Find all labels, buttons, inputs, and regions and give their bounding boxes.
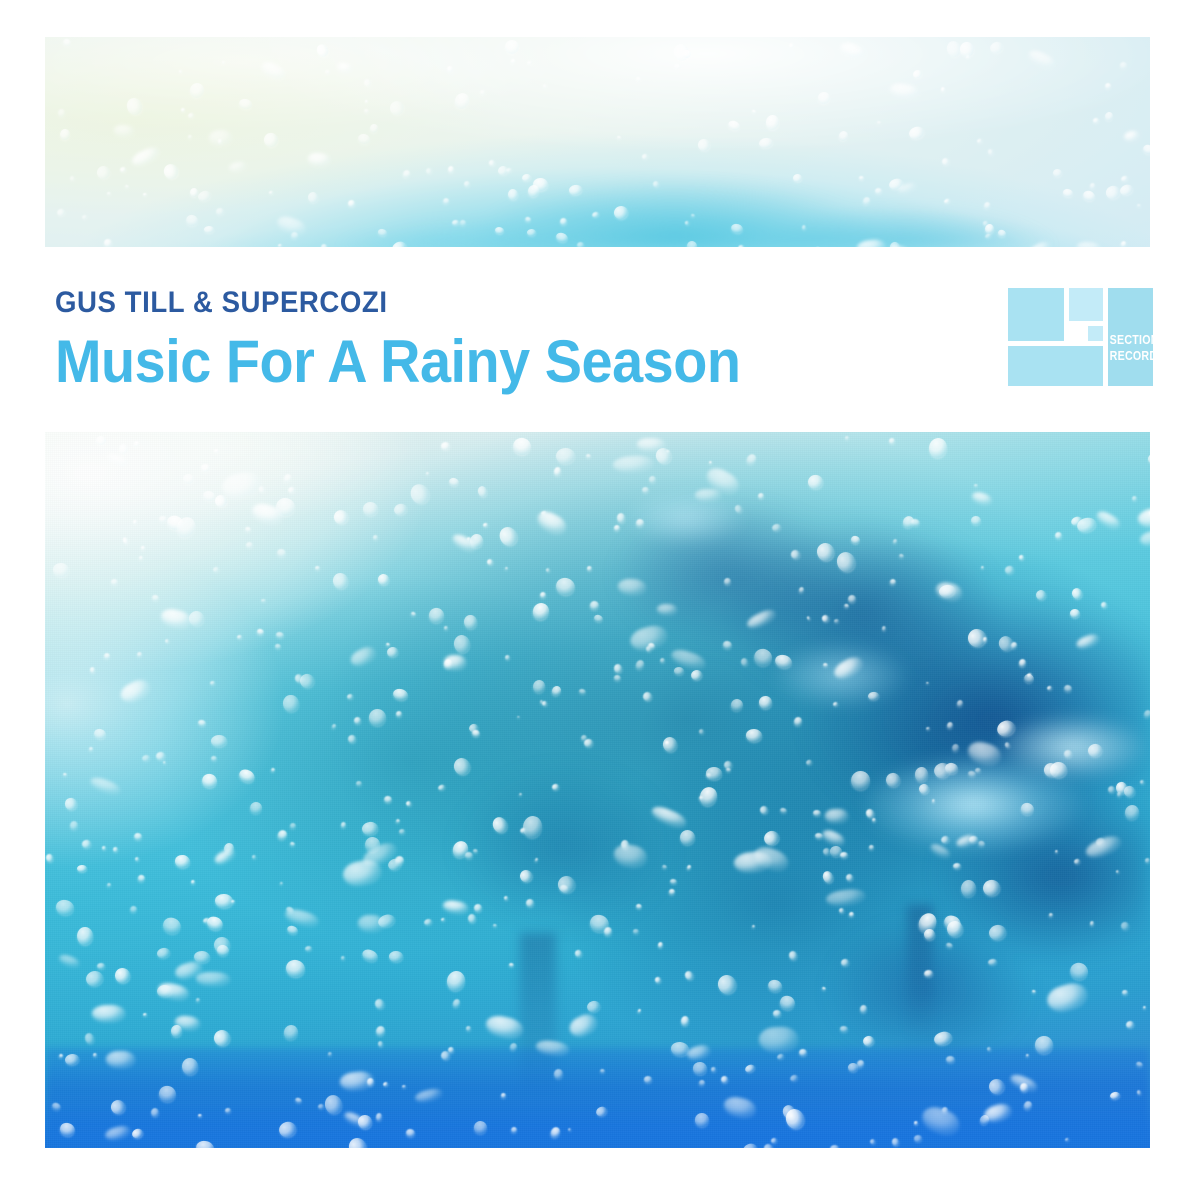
- raindrop: [737, 244, 745, 247]
- title-block: GUS TILL & SUPERCOZI Music For A Rainy S…: [55, 288, 955, 392]
- raindrop: [1122, 990, 1128, 995]
- raindrop: [674, 64, 682, 70]
- raindrop: [467, 914, 476, 924]
- raindrop: [554, 576, 577, 598]
- raindrop: [361, 948, 380, 965]
- raindrop: [924, 929, 935, 941]
- raindrop: [287, 486, 295, 494]
- raindrop: [757, 492, 764, 499]
- raindrop: [901, 515, 916, 530]
- raindrop: [369, 123, 379, 133]
- raindrop: [402, 169, 412, 179]
- raindrop: [133, 832, 143, 841]
- raindrop: [1049, 912, 1053, 916]
- raindrop: [106, 452, 129, 468]
- raindrop: [415, 1087, 443, 1103]
- raindrop: [840, 852, 848, 858]
- raindrop: [386, 646, 399, 658]
- raindrop: [53, 562, 70, 577]
- raindrop: [1067, 960, 1091, 984]
- raindrop: [275, 643, 282, 649]
- raindrop: [90, 667, 96, 673]
- raindrop: [635, 518, 645, 528]
- raindrop: [347, 734, 356, 743]
- raindrop: [724, 577, 732, 585]
- raindrop: [156, 946, 171, 959]
- raindrop: [89, 774, 122, 795]
- raindrop: [1055, 850, 1058, 853]
- raindrop: [1125, 1019, 1135, 1029]
- raindrop: [1045, 980, 1090, 1014]
- raindrop: [1020, 1083, 1028, 1092]
- raindrop: [578, 688, 586, 695]
- raindrop: [451, 219, 459, 225]
- raindrop: [1084, 833, 1122, 860]
- raindrop: [527, 61, 532, 66]
- raindrop: [84, 1032, 96, 1045]
- raindrop: [832, 702, 838, 708]
- raindrop: [641, 153, 649, 160]
- raindrop: [1120, 240, 1127, 247]
- raindrop: [1026, 238, 1053, 247]
- raindrop: [201, 463, 211, 471]
- raindrop: [535, 508, 570, 537]
- raindrop: [469, 533, 484, 549]
- raindrop: [745, 607, 777, 630]
- raindrop: [411, 611, 417, 617]
- raindrop: [118, 676, 153, 705]
- raindrop: [849, 768, 873, 793]
- raindrop: [96, 435, 106, 444]
- raindrop: [550, 684, 563, 697]
- raindrop: [143, 1013, 147, 1016]
- raindrop: [1062, 188, 1073, 198]
- raindrop: [821, 828, 847, 848]
- raindrop: [277, 1120, 298, 1139]
- raindrop: [471, 729, 481, 738]
- raindrop: [1032, 989, 1036, 993]
- raindrop: [103, 652, 111, 660]
- raindrop: [120, 166, 128, 173]
- raindrop: [277, 828, 289, 841]
- raindrop: [807, 474, 823, 490]
- raindrop: [1053, 168, 1062, 176]
- raindrop: [946, 1055, 955, 1062]
- raindrop: [734, 504, 743, 514]
- raindrop: [340, 956, 344, 960]
- raindrop: [812, 809, 820, 816]
- raindrop: [758, 695, 773, 709]
- raindrop: [636, 76, 642, 81]
- raindrop: [845, 873, 853, 881]
- raindrop: [613, 674, 621, 681]
- raindrop: [871, 818, 875, 822]
- raindrop: [686, 864, 692, 870]
- raindrop: [261, 599, 266, 602]
- raindrop: [137, 874, 146, 883]
- raindrop: [1103, 111, 1114, 122]
- raindrop: [925, 682, 928, 685]
- raindrop: [189, 81, 206, 99]
- raindrop: [459, 219, 467, 227]
- raindrop: [518, 868, 534, 884]
- raindrop: [1020, 801, 1036, 817]
- raindrop: [1101, 601, 1108, 608]
- raindrop: [285, 958, 307, 979]
- raindrop: [150, 1107, 158, 1116]
- raindrop: [924, 969, 933, 977]
- raindrop: [844, 436, 849, 440]
- raindrop: [357, 1114, 372, 1130]
- raindrop: [505, 655, 510, 661]
- raindrop: [425, 167, 433, 175]
- raindrop: [996, 634, 1015, 654]
- raindrop: [155, 751, 165, 760]
- raindrop: [294, 1097, 303, 1105]
- raindrop: [600, 1068, 606, 1073]
- raindrop: [119, 444, 129, 455]
- raindrop: [849, 912, 855, 918]
- raindrop: [211, 756, 218, 762]
- raindrop: [195, 997, 199, 1001]
- raindrop: [837, 129, 849, 141]
- raindrop: [200, 772, 219, 791]
- raindrop: [377, 573, 389, 584]
- raindrop: [876, 121, 880, 125]
- raindrop: [162, 761, 166, 765]
- raindrop: [706, 767, 722, 780]
- top-band-raindrops: [45, 37, 1150, 247]
- raindrop: [141, 754, 150, 762]
- raindrop: [525, 899, 534, 908]
- raindrop: [510, 435, 534, 459]
- raindrop: [943, 198, 950, 204]
- raindrop: [766, 115, 780, 130]
- raindrop: [70, 820, 79, 830]
- raindrop: [108, 1098, 127, 1117]
- raindrop: [77, 865, 87, 873]
- raindrop: [945, 941, 953, 949]
- raindrop: [484, 1014, 524, 1040]
- raindrop: [805, 759, 812, 766]
- raindrop: [722, 1095, 757, 1119]
- raindrop: [773, 1010, 781, 1017]
- raindrop: [1073, 858, 1080, 865]
- raindrop: [366, 1078, 373, 1086]
- raindrop: [914, 1135, 923, 1142]
- logo-line-records: RECORDS: [1110, 348, 1145, 364]
- raindrop: [220, 470, 263, 501]
- raindrop: [649, 476, 656, 483]
- raindrop: [503, 895, 508, 900]
- raindrop: [793, 716, 804, 727]
- raindrop: [946, 721, 954, 729]
- raindrop: [315, 42, 331, 58]
- raindrop: [174, 854, 191, 869]
- raindrop: [744, 1063, 756, 1074]
- raindrop: [1063, 684, 1073, 694]
- raindrop: [932, 799, 936, 803]
- raindrop: [660, 658, 665, 664]
- raindrop: [1107, 786, 1116, 794]
- raindrop: [779, 807, 787, 814]
- raindrop: [539, 591, 546, 598]
- raindrop: [861, 1035, 874, 1048]
- raindrop: [391, 240, 408, 247]
- raindrop: [710, 1067, 715, 1072]
- raindrop: [184, 213, 199, 228]
- raindrop: [987, 1076, 1007, 1096]
- raindrop: [838, 907, 845, 913]
- raindrop: [650, 804, 688, 830]
- raindrop: [847, 594, 856, 603]
- raindrop: [377, 228, 387, 236]
- raindrop: [1140, 779, 1145, 784]
- raindrop: [616, 135, 621, 140]
- raindrop: [940, 834, 950, 844]
- top-photo-band: [45, 37, 1150, 247]
- raindrop: [857, 238, 886, 247]
- raindrop: [654, 976, 661, 984]
- raindrop: [315, 566, 320, 570]
- raindrop: [840, 958, 849, 967]
- raindrop: [536, 1039, 570, 1056]
- raindrop: [374, 998, 385, 1010]
- raindrop: [976, 138, 982, 143]
- raindrop: [179, 70, 182, 73]
- raindrop: [395, 818, 400, 823]
- raindrop: [395, 711, 401, 717]
- raindrop: [822, 986, 827, 990]
- raindrop: [932, 1030, 952, 1047]
- raindrop: [131, 1127, 145, 1140]
- raindrop: [553, 466, 561, 476]
- raindrop: [248, 800, 264, 816]
- raindrop: [568, 1127, 572, 1131]
- raindrop: [868, 692, 880, 701]
- raindrop: [331, 507, 350, 526]
- raindrop: [1090, 921, 1095, 926]
- raindrop: [946, 920, 964, 938]
- logo-square-top-right: [1069, 288, 1103, 321]
- raindrop: [1026, 47, 1056, 70]
- raindrop: [956, 699, 964, 707]
- raindrop: [527, 229, 537, 237]
- raindrop: [968, 835, 977, 843]
- raindrop: [730, 223, 744, 235]
- raindrop: [637, 438, 665, 450]
- raindrop: [766, 979, 783, 995]
- raindrop: [825, 808, 848, 822]
- raindrop: [332, 572, 350, 591]
- raindrop: [693, 1111, 709, 1127]
- raindrop: [617, 513, 626, 523]
- raindrop: [1047, 685, 1053, 691]
- raindrop: [987, 148, 994, 155]
- raindrop: [510, 58, 516, 64]
- raindrop: [388, 951, 402, 962]
- raindrop: [725, 768, 731, 773]
- raindrop: [526, 184, 539, 198]
- raindrop: [668, 888, 676, 896]
- raindrop: [448, 1047, 454, 1053]
- raindrop: [889, 438, 895, 444]
- raindrop: [355, 781, 361, 787]
- raindrop: [752, 924, 756, 928]
- raindrop: [358, 915, 384, 931]
- raindrop: [474, 904, 483, 912]
- raindrop: [341, 858, 382, 888]
- raindrop: [613, 663, 623, 673]
- raindrop: [509, 1042, 518, 1052]
- raindrop: [556, 448, 575, 464]
- raindrop: [125, 184, 130, 189]
- raindrop: [1132, 496, 1137, 501]
- raindrop: [981, 878, 1001, 898]
- raindrop: [751, 109, 756, 113]
- raindrop: [674, 666, 685, 674]
- raindrop: [402, 1085, 406, 1089]
- raindrop: [276, 547, 287, 557]
- raindrop: [517, 716, 520, 719]
- raindrop: [882, 625, 886, 630]
- raindrop: [493, 924, 498, 928]
- raindrop: [104, 1124, 131, 1141]
- raindrop: [556, 873, 579, 896]
- raindrop: [354, 717, 362, 724]
- raindrop: [521, 173, 532, 182]
- raindrop: [256, 628, 265, 636]
- raindrop: [365, 100, 369, 103]
- raindrop: [834, 619, 839, 623]
- raindrop: [869, 1138, 876, 1145]
- raindrop: [466, 1026, 471, 1031]
- raindrop: [114, 967, 132, 984]
- raindrop: [362, 78, 371, 87]
- section-records-logo[interactable]: SECTION RECORDS: [1008, 288, 1153, 386]
- raindrop: [383, 795, 393, 804]
- raindrop: [57, 108, 65, 117]
- raindrop: [1095, 508, 1122, 530]
- raindrop: [246, 542, 253, 548]
- raindrop: [405, 1128, 415, 1138]
- raindrop: [407, 481, 433, 507]
- raindrop: [987, 923, 1008, 942]
- raindrop: [774, 653, 794, 670]
- raindrop: [81, 839, 91, 849]
- raindrop: [437, 784, 445, 791]
- raindrop: [574, 950, 583, 959]
- raindrop: [1123, 129, 1140, 141]
- raindrop: [277, 244, 281, 247]
- raindrop: [742, 1142, 759, 1148]
- raindrop: [641, 690, 652, 702]
- raindrop: [1138, 529, 1150, 548]
- raindrop: [393, 502, 409, 517]
- raindrop: [1147, 453, 1150, 464]
- raindrop: [983, 201, 992, 210]
- raindrop: [652, 180, 660, 188]
- raindrop: [542, 83, 548, 88]
- raindrop: [524, 216, 532, 223]
- raindrop: [62, 38, 72, 48]
- raindrop: [282, 473, 292, 484]
- raindrop: [721, 1075, 729, 1083]
- raindrop: [815, 541, 836, 562]
- raindrop: [282, 1024, 300, 1042]
- raindrop: [211, 735, 227, 747]
- raindrop: [1081, 189, 1096, 203]
- raindrop: [113, 847, 118, 853]
- raindrop: [290, 231, 299, 240]
- raindrop: [464, 614, 477, 629]
- raindrop: [661, 735, 678, 753]
- raindrop: [770, 1137, 778, 1144]
- raindrop: [445, 969, 468, 993]
- raindrop: [63, 773, 68, 777]
- raindrop: [361, 821, 378, 836]
- raindrop: [134, 857, 139, 862]
- raindrop: [45, 853, 53, 862]
- raindrop: [531, 601, 551, 622]
- raindrop: [912, 69, 924, 80]
- raindrop: [762, 828, 782, 848]
- raindrop: [195, 1139, 215, 1148]
- raindrop: [162, 162, 182, 182]
- raindrop: [633, 929, 640, 934]
- raindrop: [340, 822, 346, 828]
- raindrop: [929, 842, 951, 860]
- raindrop: [181, 1058, 197, 1075]
- raindrop: [758, 1027, 797, 1052]
- raindrop: [214, 894, 233, 909]
- raindrop: [304, 945, 312, 951]
- raindrop: [197, 719, 207, 727]
- raindrop: [612, 455, 652, 472]
- raindrop: [452, 998, 462, 1009]
- raindrop: [328, 1051, 332, 1055]
- raindrop: [843, 603, 850, 609]
- raindrop: [442, 197, 450, 205]
- artist-name: GUS TILL & SUPERCOZI: [55, 288, 883, 318]
- raindrop: [554, 1069, 563, 1079]
- raindrop: [405, 800, 412, 806]
- raindrop: [56, 208, 66, 217]
- raindrop: [161, 915, 184, 937]
- raindrop: [1004, 741, 1012, 749]
- raindrop: [382, 1081, 388, 1087]
- raindrop: [696, 137, 712, 153]
- raindrop: [698, 1079, 706, 1087]
- raindrop: [392, 687, 409, 701]
- raindrop: [919, 1103, 962, 1138]
- raindrop: [519, 793, 523, 797]
- logo-square-top-left: [1008, 288, 1064, 341]
- raindrop: [508, 189, 519, 201]
- raindrop: [348, 200, 355, 207]
- raindrop: [496, 525, 519, 550]
- raindrop: [363, 502, 379, 516]
- raindrop: [1142, 709, 1150, 720]
- raindrop: [156, 1083, 178, 1104]
- logo-square-small-white: [1069, 326, 1084, 341]
- raindrop: [452, 756, 473, 778]
- raindrop: [1071, 587, 1084, 601]
- raindrop: [76, 926, 93, 945]
- raindrop: [307, 191, 319, 203]
- raindrop: [729, 697, 745, 713]
- raindrop: [399, 829, 406, 834]
